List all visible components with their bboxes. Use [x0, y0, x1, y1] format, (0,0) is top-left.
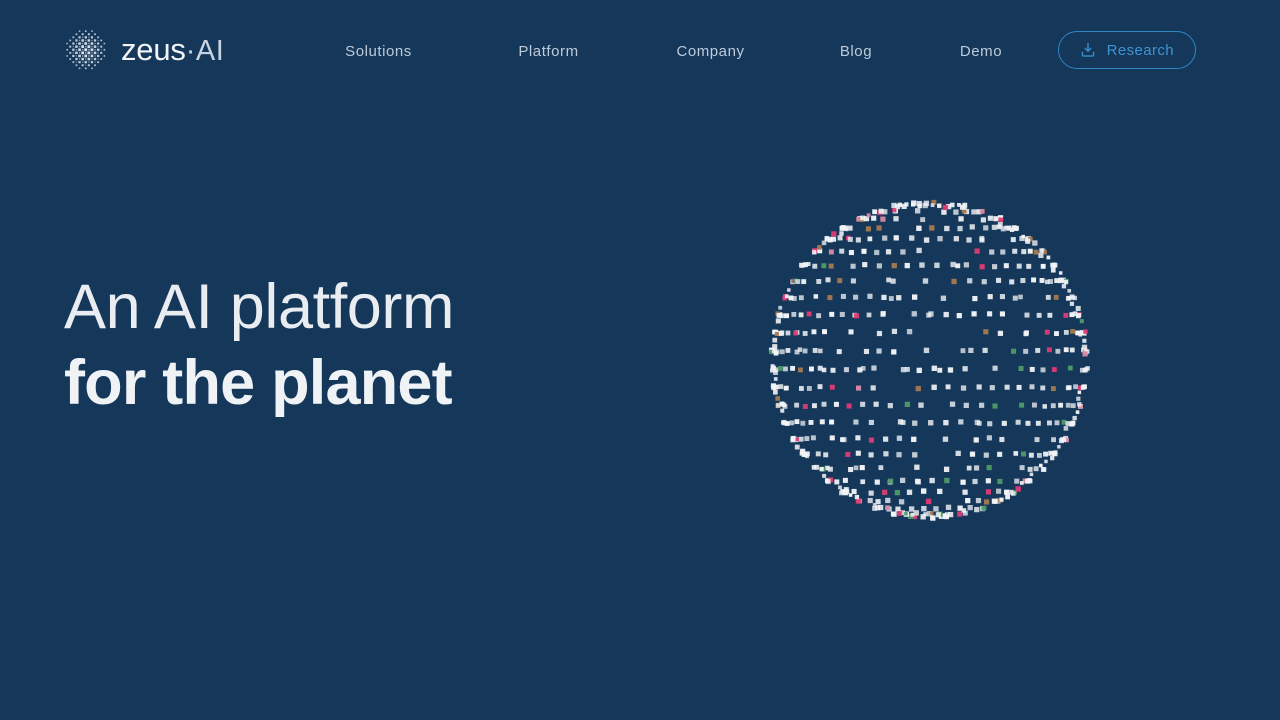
- research-button-label: Research: [1107, 42, 1174, 59]
- brand-logo[interactable]: zeus·AI: [64, 26, 224, 74]
- headline-line-2: for the planet: [64, 352, 454, 415]
- nav-slot-demo: Demo: [921, 43, 1041, 60]
- research-button[interactable]: Research: [1058, 31, 1196, 69]
- page-title: An AI platform for the planet: [64, 276, 454, 415]
- headline-line-1: An AI platform: [64, 276, 454, 339]
- nav-item-platform[interactable]: Platform: [518, 43, 578, 60]
- nav-slot-solutions: Solutions: [290, 43, 467, 60]
- dotted-globe-graphic: [762, 193, 1096, 527]
- main-navigation: Solutions Platform Company Blog Demo: [290, 0, 1041, 102]
- halftone-sphere-logo-icon: [64, 28, 108, 72]
- brand-wordmark: zeus·AI: [121, 34, 224, 66]
- nav-slot-blog: Blog: [791, 43, 921, 60]
- hero-section: An AI platform for the planet: [64, 276, 454, 415]
- page-root: zeus·AI Solutions Platform Company Blog …: [0, 0, 1280, 720]
- brand-suffix: ·AI: [186, 37, 225, 66]
- brand-name: zeus: [121, 34, 186, 65]
- site-header: zeus·AI Solutions Platform Company Blog …: [0, 0, 1280, 102]
- nav-slot-platform: Platform: [467, 43, 630, 60]
- download-icon: [1080, 42, 1096, 58]
- nav-item-company[interactable]: Company: [676, 43, 744, 60]
- nav-item-solutions[interactable]: Solutions: [345, 43, 412, 60]
- nav-slot-company: Company: [630, 43, 791, 60]
- nav-item-demo[interactable]: Demo: [960, 43, 1002, 60]
- nav-item-blog[interactable]: Blog: [840, 43, 872, 60]
